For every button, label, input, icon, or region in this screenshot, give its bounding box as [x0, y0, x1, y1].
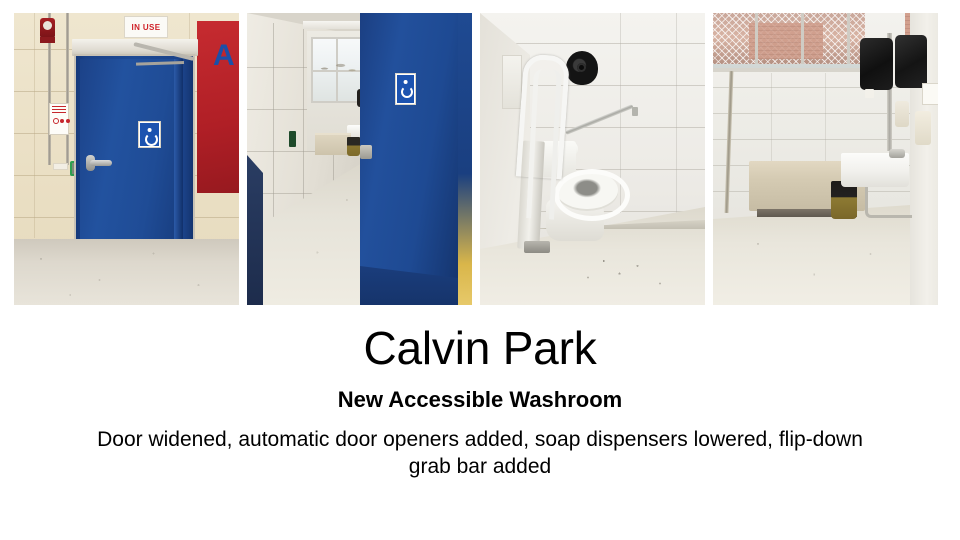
soap-dispenser [895, 101, 909, 127]
toilet-paper-dispenser [566, 51, 598, 85]
photo-washroom-entrance-door: A IN USE [14, 13, 239, 305]
open-washroom-door [360, 13, 458, 278]
wheelchair-accessibility-icon [395, 73, 416, 105]
caption-block: Calvin Park New Accessible Washroom Door… [0, 320, 960, 480]
prohibition-sign [49, 103, 69, 135]
waste-bin [347, 137, 360, 156]
washroom-floor [713, 203, 938, 305]
wall-sign [922, 83, 938, 105]
fire-alarm-icon [40, 18, 55, 37]
photo-washroom-doorway-interior [247, 13, 472, 305]
page-body-text: Door widened, automatic door openers add… [80, 426, 880, 480]
paper-towel-dispenser [860, 38, 893, 90]
corridor-floor [14, 239, 239, 305]
in-use-sign-text: IN USE [131, 23, 160, 32]
photo-1-scene: A IN USE [14, 13, 239, 305]
presentation-slide: A IN USE [0, 0, 960, 540]
paper-towel-dispenser [895, 35, 927, 88]
sink-plumbing [865, 185, 912, 218]
radiator [315, 133, 351, 155]
photo-2-scene [247, 13, 472, 305]
page-title: Calvin Park [0, 320, 960, 376]
toilet-seat [554, 169, 630, 221]
window [713, 13, 865, 72]
soap-dispenser [915, 111, 931, 145]
ceiling [303, 21, 365, 29]
faucet [889, 149, 905, 158]
wall-box-icon [289, 131, 296, 147]
photo-toilet-with-flip-down-grab-bar [480, 13, 705, 305]
door-handle [90, 160, 112, 166]
page-subtitle: New Accessible Washroom [0, 385, 960, 415]
wheelchair-accessibility-icon [138, 121, 161, 148]
photo-strip: A IN USE [14, 13, 946, 305]
bulletin-board: A [197, 21, 239, 193]
washroom-door [80, 59, 178, 251]
photo-4-scene [713, 13, 938, 305]
door-handle [360, 145, 372, 159]
photo-3-scene [480, 13, 705, 305]
accessible-sink [841, 153, 909, 187]
in-use-sign: IN USE [124, 16, 168, 38]
photo-sink-with-lowered-soap-dispensers [713, 13, 938, 305]
bulletin-letter: A [213, 39, 233, 73]
